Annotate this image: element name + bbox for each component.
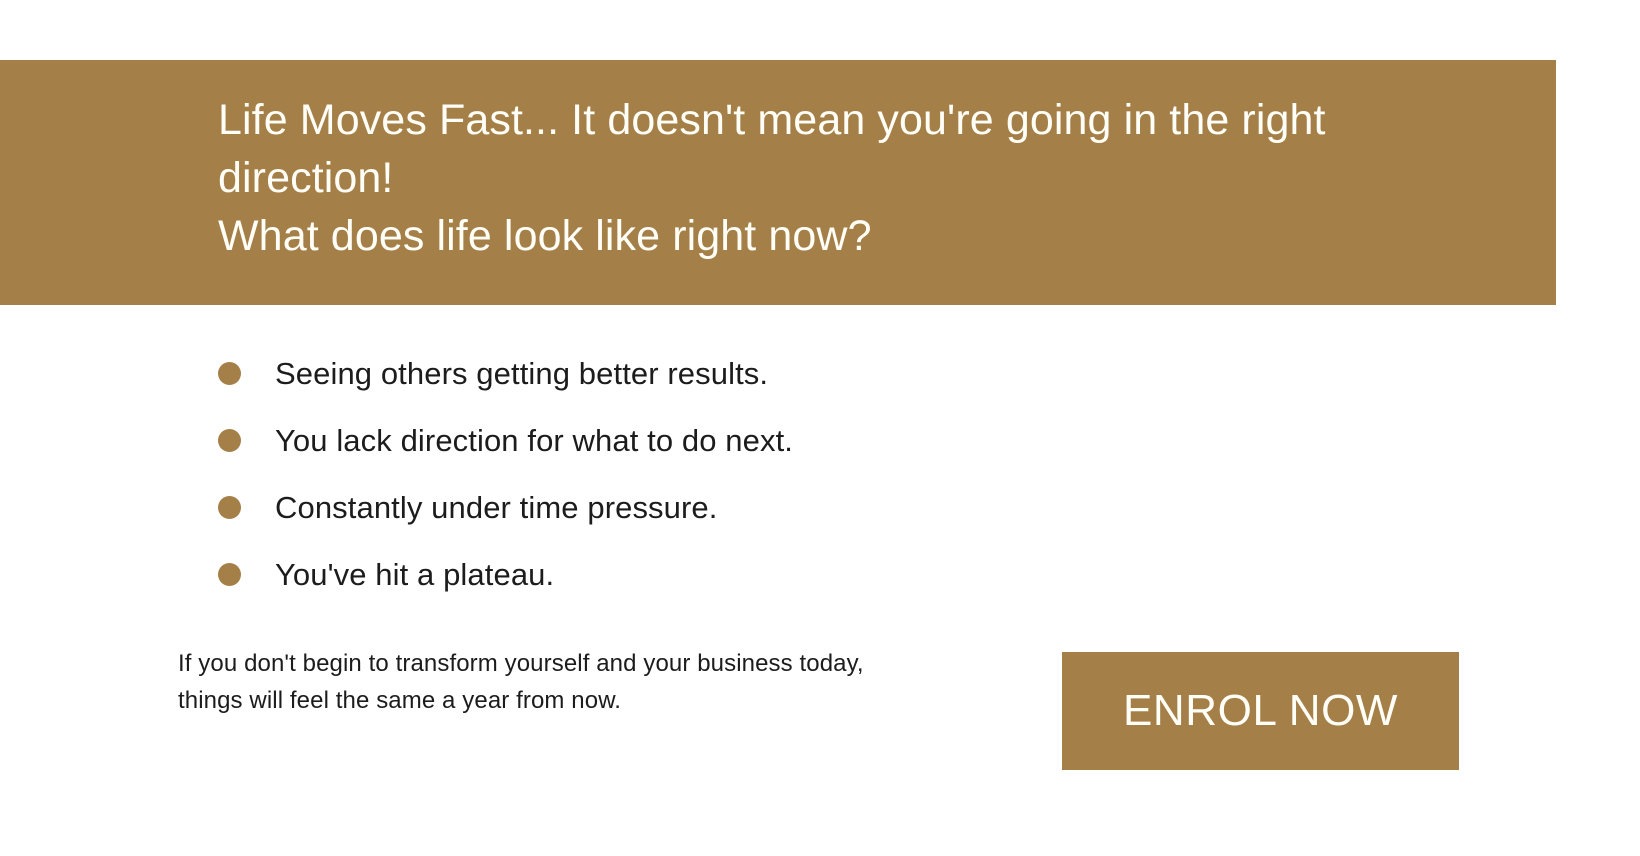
enrol-now-button-label: ENROL NOW bbox=[1123, 687, 1398, 735]
list-item: You've hit a plateau. bbox=[218, 541, 1318, 608]
list-item: You lack direction for what to do next. bbox=[218, 407, 1318, 474]
list-item-label: You lack direction for what to do next. bbox=[275, 423, 793, 459]
list-item-label: Seeing others getting better results. bbox=[275, 356, 768, 392]
list-item: Seeing others getting better results. bbox=[218, 340, 1318, 407]
closing-note: If you don't begin to transform yourself… bbox=[178, 645, 938, 719]
dot-bullet-icon bbox=[218, 496, 241, 519]
list-item-label: You've hit a plateau. bbox=[275, 557, 554, 593]
header-banner: Life Moves Fast... It doesn't mean you'r… bbox=[0, 60, 1556, 305]
enrol-now-button[interactable]: ENROL NOW bbox=[1062, 652, 1459, 770]
dot-bullet-icon bbox=[218, 429, 241, 452]
slide-canvas: Life Moves Fast... It doesn't mean you'r… bbox=[0, 0, 1640, 856]
page-title: Life Moves Fast... It doesn't mean you'r… bbox=[218, 91, 1498, 265]
list-item-label: Constantly under time pressure. bbox=[275, 490, 717, 526]
dot-bullet-icon bbox=[218, 362, 241, 385]
list-item: Constantly under time pressure. bbox=[218, 474, 1318, 541]
pain-point-list: Seeing others getting better results. Yo… bbox=[218, 340, 1318, 608]
dot-bullet-icon bbox=[218, 563, 241, 586]
